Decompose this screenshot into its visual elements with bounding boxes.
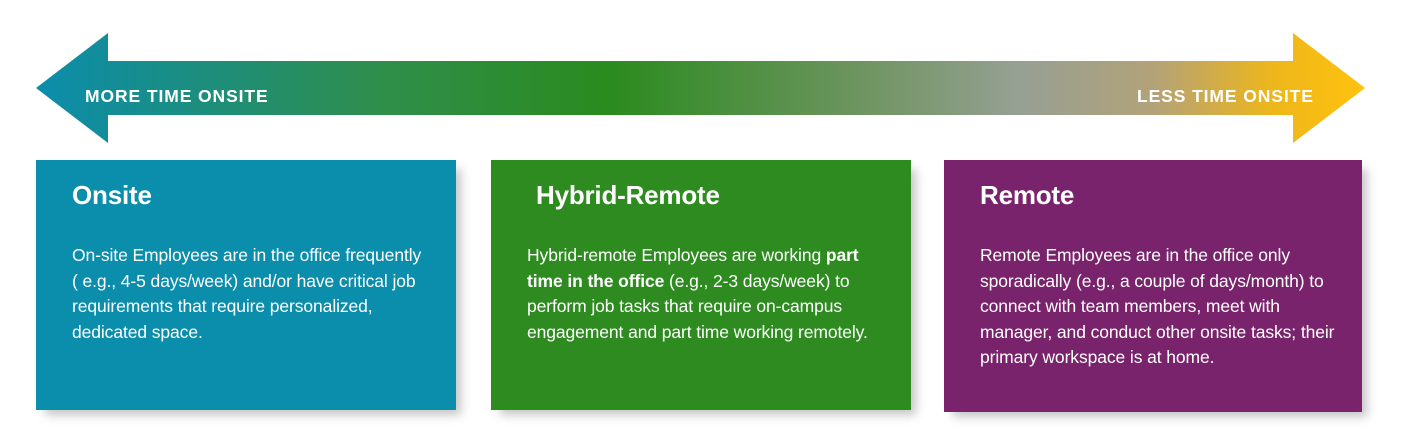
card-onsite-body: On-site Employees are in the office freq… — [72, 243, 426, 345]
double-headed-arrow-icon — [0, 0, 1401, 150]
card-hybrid-remote-body: Hybrid-remote Employees are working part… — [527, 243, 885, 345]
card-remote-body: Remote Employees are in the office only … — [980, 243, 1342, 371]
card-hybrid-remote-body-pre: Hybrid-remote Employees are working — [527, 245, 826, 265]
arrow-label-more-time-onsite: MORE TIME ONSITE — [85, 86, 269, 106]
card-hybrid-remote: Hybrid-Remote Hybrid-remote Employees ar… — [491, 160, 911, 410]
card-hybrid-remote-title: Hybrid-Remote — [536, 180, 885, 210]
card-onsite-title: Onsite — [72, 180, 426, 210]
card-remote-body-text: Remote Employees are in the office only … — [980, 245, 1334, 367]
time-onsite-arrow: MORE TIME ONSITE LESS TIME ONSITE — [0, 0, 1401, 150]
card-remote-title: Remote — [980, 180, 1342, 210]
card-remote: Remote Remote Employees are in the offic… — [944, 160, 1362, 412]
card-onsite-body-text: On-site Employees are in the office freq… — [72, 245, 421, 342]
arrow-label-less-time-onsite: LESS TIME ONSITE — [1137, 86, 1314, 106]
card-onsite: Onsite On-site Employees are in the offi… — [36, 160, 456, 410]
